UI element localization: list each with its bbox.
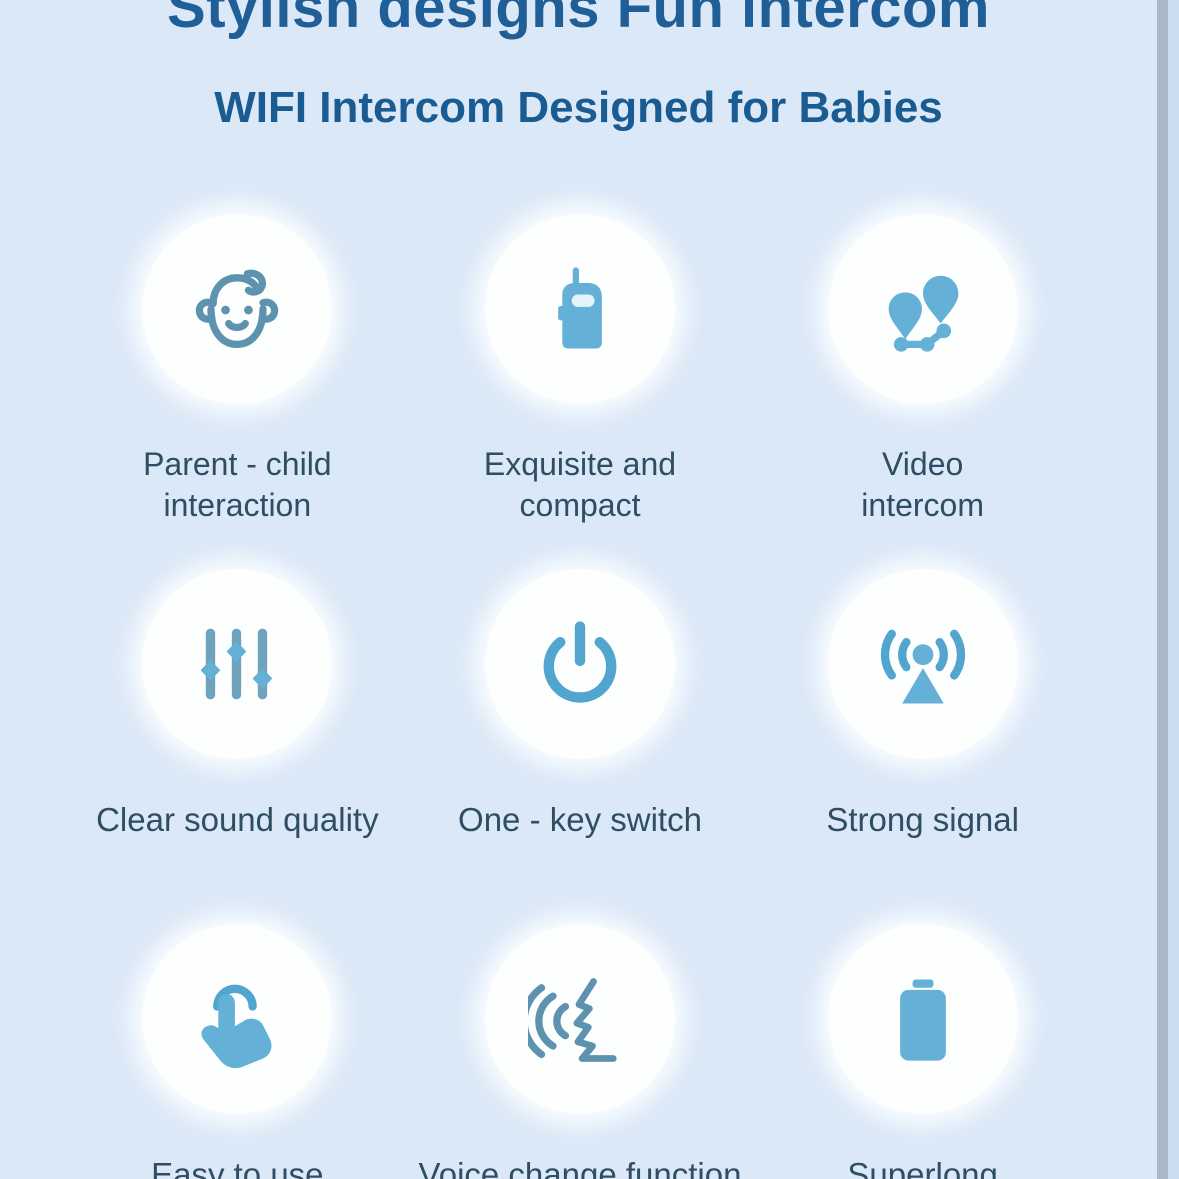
feature-label: Clear sound quality	[96, 799, 379, 841]
icon-circle	[485, 924, 675, 1114]
feature-item-parent-child: Parent - child interaction	[66, 214, 409, 569]
feature-item-video-intercom: Video intercom	[751, 214, 1094, 569]
feature-label: Exquisite and compact	[484, 444, 676, 526]
feature-label: One - key switch	[458, 799, 702, 841]
feature-label: Video intercom	[861, 444, 984, 526]
feature-label: Parent - child interaction	[143, 444, 332, 526]
feature-item-clear-sound: Clear sound quality	[66, 569, 409, 924]
icon-circle	[142, 569, 332, 759]
page-subtitle: WIFI Intercom Designed for Babies	[0, 83, 1157, 133]
feature-item-superlong-battery: Superlong	[751, 924, 1094, 1179]
icon-circle	[142, 924, 332, 1114]
feature-item-easy-to-use: Easy to use	[66, 924, 409, 1179]
feature-item-voice-change: Voice change function	[409, 924, 752, 1179]
page-edge-strip	[1157, 0, 1168, 1179]
page-edge-strip-light	[1168, 0, 1179, 1179]
power-button-icon	[528, 612, 632, 716]
poster-content: Stylish designs Fun intercom WIFI Interc…	[0, 0, 1157, 1179]
feature-item-exquisite-compact: Exquisite and compact	[409, 214, 752, 569]
icon-circle	[485, 569, 675, 759]
feature-label: Voice change function	[419, 1154, 742, 1179]
equalizer-sliders-icon	[185, 612, 289, 716]
feature-label: Superlong	[847, 1154, 997, 1179]
walkie-talkie-icon	[528, 257, 632, 361]
feature-item-one-key-switch: One - key switch	[409, 569, 752, 924]
voice-change-icon	[528, 967, 632, 1071]
feature-grid: Parent - child interaction Exquisite and…	[66, 214, 1094, 1179]
tap-hand-icon	[185, 967, 289, 1071]
feature-item-strong-signal: Strong signal	[751, 569, 1094, 924]
feature-label: Strong signal	[826, 799, 1019, 841]
icon-circle	[828, 569, 1018, 759]
icon-circle	[485, 214, 675, 404]
icon-circle	[828, 214, 1018, 404]
signal-tower-icon	[871, 612, 975, 716]
feature-label: Easy to use	[151, 1154, 323, 1179]
icon-circle	[828, 924, 1018, 1114]
page-title: Stylish designs Fun intercom	[0, 0, 1157, 41]
icon-circle	[142, 214, 332, 404]
product-feature-poster: Stylish designs Fun intercom WIFI Interc…	[0, 0, 1179, 1179]
video-intercom-nodes-icon	[871, 257, 975, 361]
baby-face-icon	[185, 257, 289, 361]
battery-icon	[871, 967, 975, 1071]
